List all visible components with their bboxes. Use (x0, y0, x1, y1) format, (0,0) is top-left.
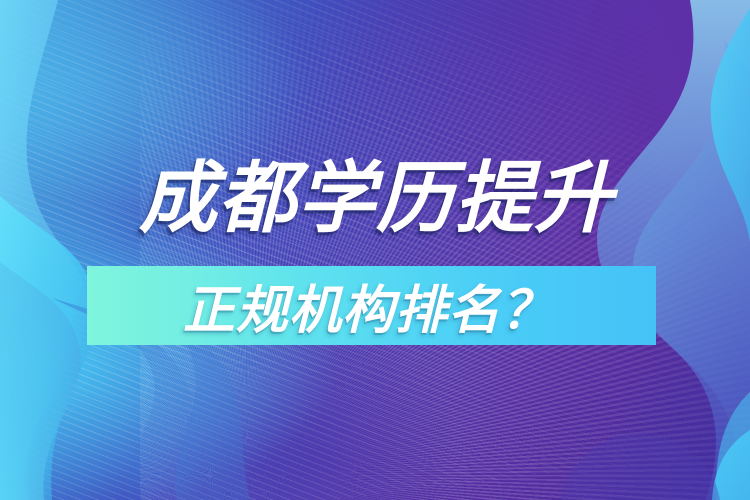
banner-headline: 成都学历提升 (139, 156, 613, 240)
subtitle-highlight-bar: 正规机构排名？ (87, 266, 656, 345)
promo-banner: 成都学历提升 正规机构排名？ (0, 0, 750, 500)
banner-content: 成都学历提升 正规机构排名？ (0, 0, 750, 500)
banner-subtitle: 正规机构排名？ (87, 266, 656, 345)
